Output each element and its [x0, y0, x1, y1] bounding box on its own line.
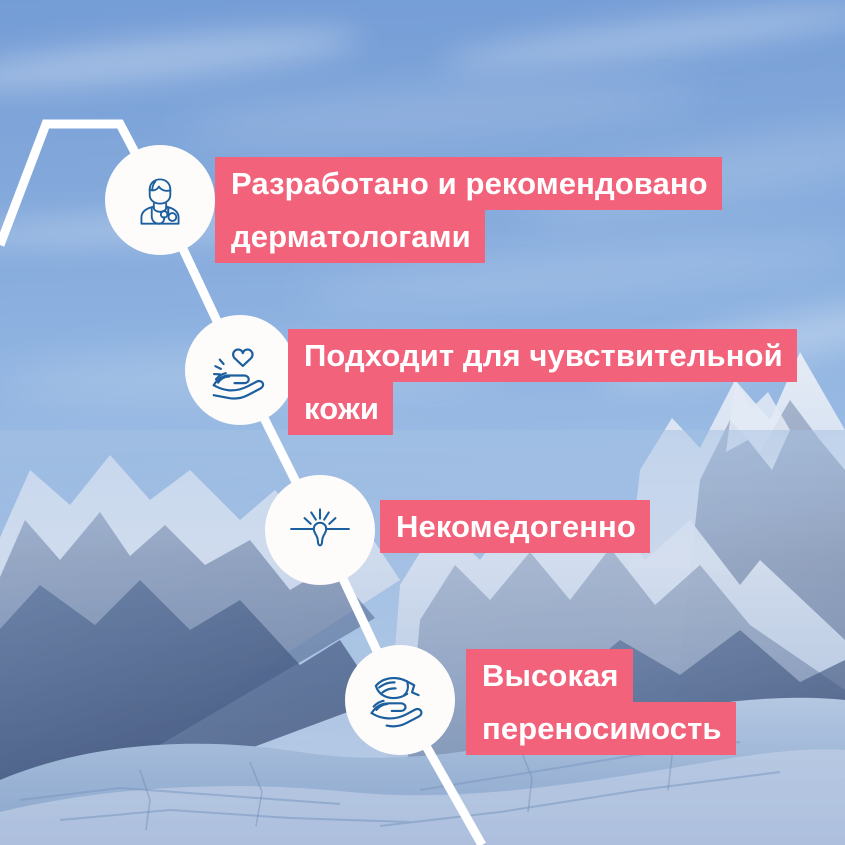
feature-label-dermatologists: Разработано и рекомендовано дерматологам…	[215, 157, 722, 263]
poster-canvas: Разработано и рекомендовано дерматологам…	[0, 0, 845, 845]
feature-label-non-comedogenic: Некомедогенно	[380, 500, 650, 553]
label-line: Некомедогенно	[380, 500, 650, 553]
hand-feather-icon	[365, 665, 435, 735]
skin-pore-icon	[287, 497, 353, 563]
label-line: дерматологами	[215, 210, 485, 263]
feature-label-sensitive-skin: Подходит для чувствительной кожи	[288, 329, 797, 435]
hand-heart-icon	[205, 335, 275, 405]
label-line: Подходит для чувствительной	[288, 329, 797, 382]
label-line: Разработано и рекомендовано	[215, 157, 722, 210]
feature-label-high-tolerance: Высокая переносимость	[466, 649, 736, 755]
feature-node-high-tolerance[interactable]	[345, 645, 455, 755]
label-line: кожи	[288, 382, 393, 435]
feature-node-dermatologists[interactable]	[105, 145, 215, 255]
feature-node-sensitive-skin[interactable]	[185, 315, 295, 425]
label-line: переносимость	[466, 702, 736, 755]
doctor-stethoscope-icon	[127, 167, 193, 233]
feature-node-non-comedogenic[interactable]	[265, 475, 375, 585]
label-line: Высокая	[466, 649, 633, 702]
